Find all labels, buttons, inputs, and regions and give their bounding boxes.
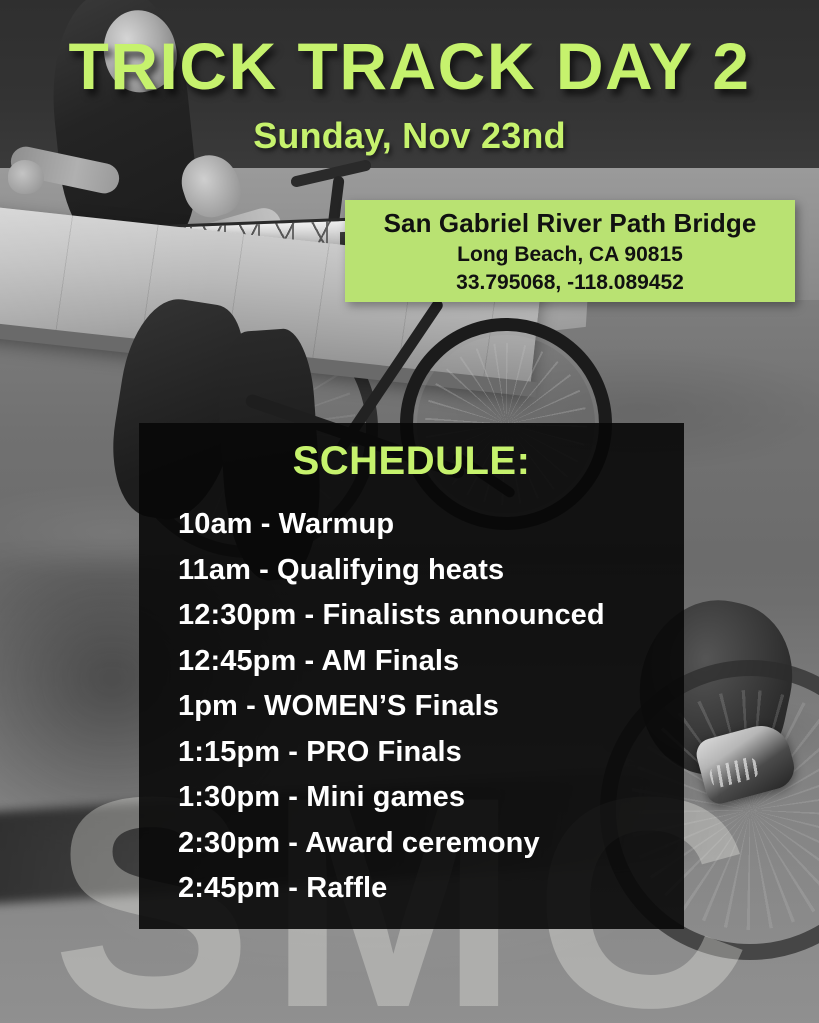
- schedule-item: 11am - Qualifying heats: [178, 548, 684, 594]
- schedule-item: 1:30pm - Mini games: [178, 775, 684, 821]
- title-block: TRICK TRACK DAY 2 Sunday, Nov 23nd: [0, 0, 819, 157]
- schedule-item: 1pm - WOMEN’S Finals: [178, 684, 684, 730]
- location-venue: San Gabriel River Path Bridge: [345, 207, 795, 240]
- schedule-item: 10am - Warmup: [178, 502, 684, 548]
- poster-subtitle: Sunday, Nov 23nd: [0, 115, 819, 157]
- schedule-panel: SCHEDULE: 10am - Warmup 11am - Qualifyin…: [139, 423, 684, 929]
- location-city: Long Beach, CA 90815: [345, 241, 795, 269]
- schedule-item: 12:45pm - AM Finals: [178, 639, 684, 685]
- event-poster: SMC TRICK TRACK DAY 2 Sunday, Nov 23nd S…: [0, 0, 819, 1023]
- schedule-item: 12:30pm - Finalists announced: [178, 593, 684, 639]
- rider-left-hand: [8, 160, 44, 194]
- location-coordinates: 33.795068, -118.089452: [345, 269, 795, 297]
- schedule-item: 2:45pm - Raffle: [178, 866, 684, 912]
- schedule-heading: SCHEDULE:: [139, 439, 684, 484]
- schedule-list: 10am - Warmup 11am - Qualifying heats 12…: [139, 502, 684, 912]
- poster-title: TRICK TRACK DAY 2: [0, 33, 819, 99]
- schedule-item: 2:30pm - Award ceremony: [178, 821, 684, 867]
- location-badge: San Gabriel River Path Bridge Long Beach…: [345, 200, 795, 302]
- schedule-item: 1:15pm - PRO Finals: [178, 730, 684, 776]
